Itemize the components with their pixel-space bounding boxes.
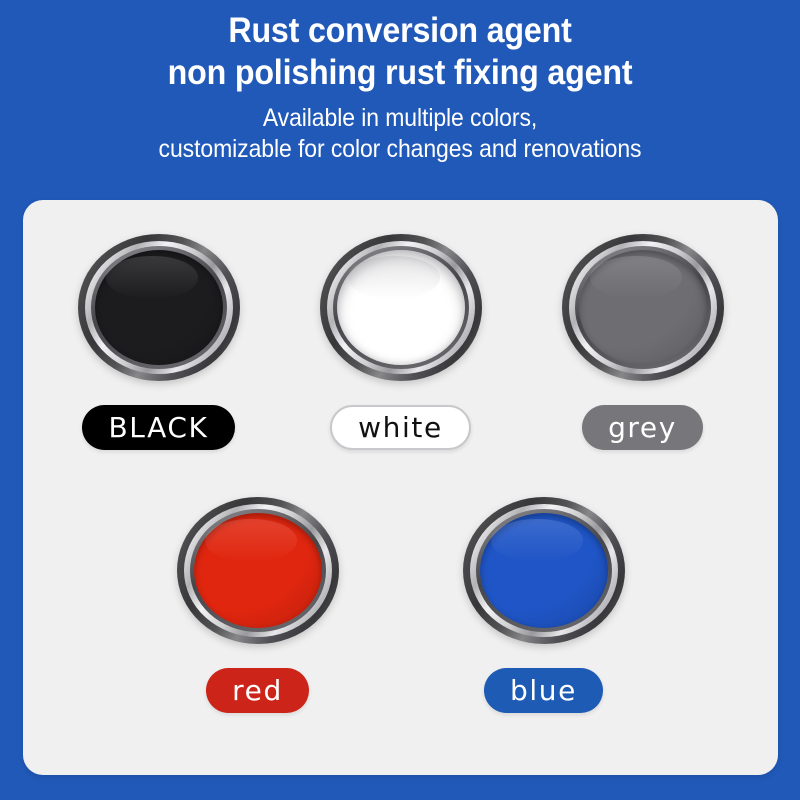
- subheadline-line-1: Available in multiple colors,: [32, 103, 768, 134]
- color-label-blue[interactable]: blue: [484, 668, 603, 713]
- paint-surface: [95, 250, 223, 365]
- color-label-black[interactable]: BLACK: [82, 405, 234, 450]
- color-swatch-card: BLACK white grey: [23, 200, 778, 775]
- color-label-white[interactable]: white: [330, 405, 471, 450]
- paint-can-black-icon: [78, 234, 240, 381]
- swatch-black[interactable]: BLACK: [77, 234, 241, 450]
- swatch-row-top: BLACK white grey: [23, 234, 778, 450]
- paint-can-grey-icon: [562, 234, 724, 381]
- paint-surface: [480, 513, 608, 628]
- paint-surface: [194, 513, 322, 628]
- swatch-row-bottom: red blue: [23, 497, 778, 713]
- color-label-grey[interactable]: grey: [582, 405, 703, 450]
- color-label-red[interactable]: red: [206, 668, 309, 713]
- headline-line-1: Rust conversion agent: [32, 10, 768, 52]
- swatch-blue[interactable]: blue: [462, 497, 626, 713]
- headline-line-2: non polishing rust fixing agent: [32, 52, 768, 94]
- paint-can-red-icon: [177, 497, 339, 644]
- subheadline-line-2: customizable for color changes and renov…: [32, 134, 768, 165]
- swatch-grey[interactable]: grey: [561, 234, 725, 450]
- paint-surface: [579, 250, 707, 365]
- paint-can-blue-icon: [463, 497, 625, 644]
- paint-surface: [337, 250, 465, 365]
- paint-can-white-icon: [320, 234, 482, 381]
- product-banner: Rust conversion agent non polishing rust…: [0, 0, 800, 800]
- swatch-white[interactable]: white: [319, 234, 483, 450]
- swatch-red[interactable]: red: [176, 497, 340, 713]
- banner-header: Rust conversion agent non polishing rust…: [0, 0, 800, 165]
